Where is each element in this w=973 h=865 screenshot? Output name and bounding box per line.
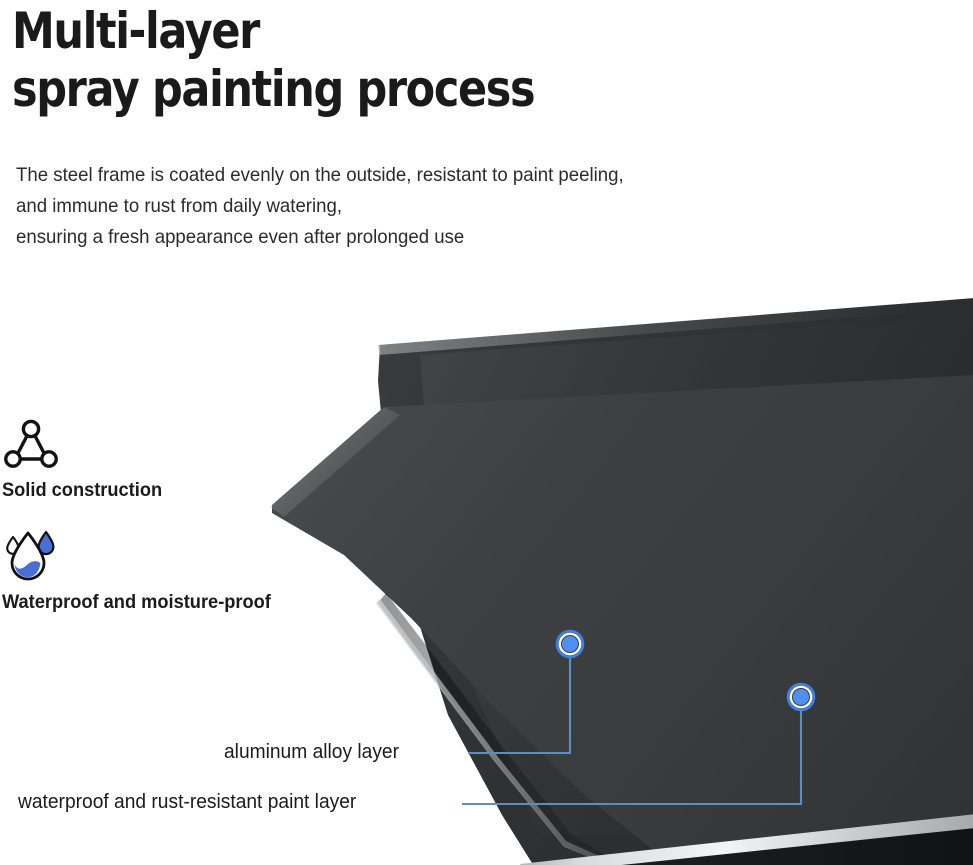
description-line-2: and immune to rust from daily watering,	[16, 191, 837, 222]
page-title-line-2: spray painting process	[12, 60, 717, 118]
water-droplet-icon	[4, 527, 64, 583]
page-title-line-1: Multi-layer	[12, 2, 259, 60]
feature-solid-construction: Solid construction	[4, 418, 169, 502]
description-line-1: The steel frame is coated evenly on the …	[16, 160, 837, 191]
infographic-page: Multi-layerspray painting process The st…	[0, 0, 973, 865]
feature-solid-construction-label: Solid construction	[2, 480, 162, 502]
description-line-3: ensuring a fresh appearance even after p…	[16, 222, 837, 253]
callout-label-aluminum-alloy-layer: aluminum alloy layer	[224, 741, 399, 764]
description-paragraph: The steel frame is coated evenly on the …	[16, 160, 837, 253]
triangle-nodes-icon	[4, 418, 58, 472]
page-title: Multi-layerspray painting process	[12, 2, 717, 118]
callout-label-paint-layer: waterproof and rust-resistant paint laye…	[18, 791, 356, 814]
feature-waterproof-label: Waterproof and moisture-proof	[2, 592, 271, 614]
feature-waterproof: Waterproof and moisture-proof	[4, 527, 282, 614]
